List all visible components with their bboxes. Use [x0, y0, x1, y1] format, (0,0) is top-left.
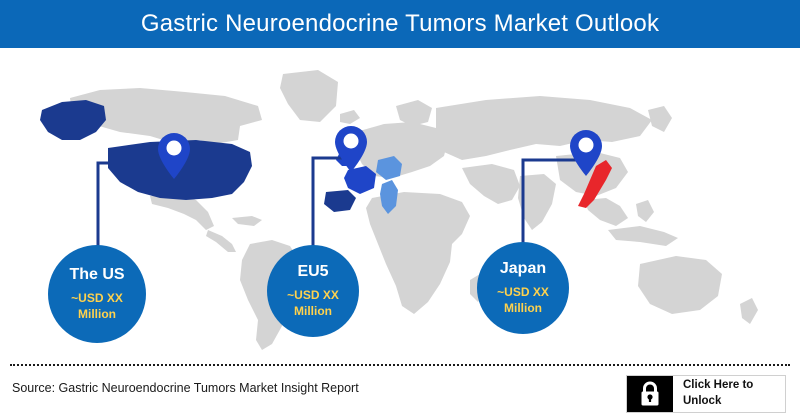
indonesia-shape — [608, 226, 678, 246]
africa-shape — [366, 192, 470, 314]
region-bubble-japan-name: Japan — [500, 260, 546, 278]
map-landmass-group — [70, 70, 758, 350]
eu5-pin-icon — [335, 126, 367, 172]
header-bar: Gastric Neuroendocrine Tumors Market Out… — [0, 0, 800, 48]
unlock-icon-box — [627, 376, 673, 412]
caribbean-shape — [232, 216, 262, 226]
region-bubble-us-value: ~USD XX Million — [71, 291, 123, 322]
iceland-shape — [340, 110, 360, 124]
kamchatka-shape — [648, 106, 672, 132]
region-bubble-us[interactable]: The US ~USD XX Million — [48, 245, 146, 343]
region-bubble-eu5-value: ~USD XX Million — [287, 288, 339, 319]
footer-divider — [10, 364, 790, 366]
infographic-root: Gastric Neuroendocrine Tumors Market Out… — [0, 0, 800, 420]
france-highlight — [344, 166, 376, 194]
alaska-highlight — [40, 100, 106, 140]
lock-icon — [639, 381, 661, 407]
unlock-button-label: Click Here to Unlock — [673, 376, 785, 412]
spain-highlight — [324, 190, 356, 212]
middle-east-shape — [462, 164, 520, 204]
new-zealand-shape — [740, 298, 758, 324]
world-map-stage: The US ~USD XX Million EU5 ~USD XX Milli… — [0, 48, 800, 364]
region-bubble-japan[interactable]: Japan ~USD XX Million — [477, 242, 569, 334]
greenland-shape — [280, 70, 338, 122]
philippines-shape — [636, 200, 654, 222]
page-title: Gastric Neuroendocrine Tumors Market Out… — [141, 12, 659, 36]
region-bubble-eu5[interactable]: EU5 ~USD XX Million — [267, 245, 359, 337]
australia-shape — [638, 256, 722, 314]
source-text: Source: Gastric Neuroendocrine Tumors Ma… — [12, 381, 359, 395]
central-america-shape — [206, 230, 236, 252]
region-bubble-eu5-name: EU5 — [297, 263, 328, 281]
scandinavia-shape — [396, 100, 432, 126]
india-shape — [518, 174, 556, 230]
asia-shape — [436, 96, 652, 160]
region-bubble-japan-value: ~USD XX Million — [497, 285, 549, 316]
unlock-button[interactable]: Click Here to Unlock — [626, 375, 786, 413]
region-bubble-us-name: The US — [69, 266, 124, 284]
